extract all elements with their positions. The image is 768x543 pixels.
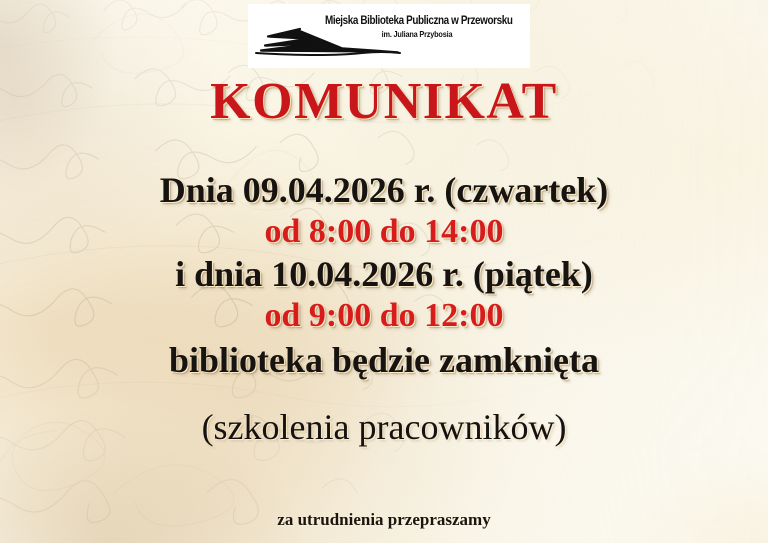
apology-text: za utrudnienia przepraszamy [0, 509, 768, 531]
logo-title: Miejska Biblioteka Publiczna w Przeworsk… [325, 15, 509, 28]
announcement-line-5: biblioteka będzie zamknięta [0, 336, 768, 384]
announcement-poster: Miejska Biblioteka Publiczna w Przeworsk… [0, 0, 768, 543]
announcement-line-3: i dnia 10.04.2026 r. (piątek) [0, 252, 768, 296]
announcement-line-1: Dnia 09.04.2026 r. (czwartek) [0, 168, 768, 212]
library-logo: Miejska Biblioteka Publiczna w Przeworsk… [248, 4, 530, 68]
announcement-line-4: od 9:00 do 12:00 [0, 296, 768, 336]
logo-subtitle: im. Juliana Przybosia [325, 29, 509, 40]
announcement-block: Dnia 09.04.2026 r. (czwartek) od 8:00 do… [0, 168, 768, 384]
page-title: KOMUNIKAT [0, 74, 768, 130]
announcement-note: (szkolenia pracowników) [0, 404, 768, 450]
announcement-line-2: od 8:00 do 14:00 [0, 212, 768, 252]
